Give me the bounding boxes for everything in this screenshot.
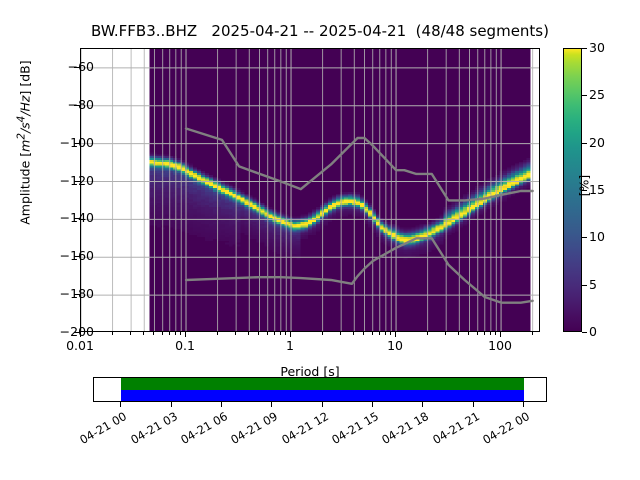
x-axis-tick-label-3: 10 [355, 338, 435, 353]
x-axis-tick-mark [353, 332, 354, 335]
colorbar-tick-mark-0 [582, 332, 587, 333]
x-axis-tick-mark [267, 332, 268, 335]
x-axis-tick-mark [153, 332, 154, 335]
colorbar-tick-label-6: 30 [589, 40, 605, 55]
x-axis-tick-mark [185, 332, 186, 337]
x-axis-tick-mark [180, 332, 181, 335]
figure-canvas: BW.FFB3..BHZ 2025-04-21 -- 2025-04-21 (4… [0, 0, 640, 480]
x-axis-tick-mark [248, 332, 249, 335]
x-axis-tick-mark [500, 332, 501, 337]
timeline-tick-mark-5 [372, 402, 373, 407]
y-axis-tick-mark-5 [74, 256, 80, 257]
y-axis-tick-mark-1 [74, 105, 80, 106]
colorbar-tick-label-5: 25 [589, 87, 605, 102]
x-axis-tick-mark [477, 332, 478, 335]
y-axis-tick-mark-6 [74, 294, 80, 295]
y-axis-tick-mark-2 [74, 143, 80, 144]
timeline-tick-mark-6 [422, 402, 423, 407]
x-axis-tick-mark [445, 332, 446, 335]
psd-segments-bar [121, 390, 524, 402]
x-axis-tick-mark [322, 332, 323, 335]
colorbar-tick-label-1: 5 [589, 277, 597, 292]
grid-and-noise-models [81, 49, 540, 332]
x-axis-tick-mark [217, 332, 218, 335]
colorbar-label: [%] [577, 126, 592, 246]
x-axis-tick-mark [484, 332, 485, 335]
x-axis-tick-mark [379, 332, 380, 335]
y-axis-tick-mark-0 [74, 67, 80, 68]
x-axis-tick-mark [385, 332, 386, 335]
x-axis-tick-mark [290, 332, 291, 337]
x-axis-tick-mark [372, 332, 373, 335]
x-axis-tick-mark [112, 332, 113, 335]
x-axis-tick-mark [340, 332, 341, 335]
x-axis-tick-label-4: 100 [460, 338, 540, 353]
colorbar-tick-mark-5 [582, 95, 587, 96]
figure-title: BW.FFB3..BHZ 2025-04-21 -- 2025-04-21 (4… [0, 22, 640, 40]
x-axis-tick-mark [258, 332, 259, 335]
x-axis-tick-mark [274, 332, 275, 335]
x-axis-tick-mark [235, 332, 236, 335]
x-axis-tick-mark [468, 332, 469, 335]
colorbar-tick-label-0: 0 [589, 324, 597, 339]
x-axis-tick-mark [490, 332, 491, 335]
y-axis-tick-mark-4 [74, 218, 80, 219]
timeline-tick-mark-3 [271, 402, 272, 407]
x-axis-tick-mark [80, 332, 81, 337]
timeline-tick-mark-8 [523, 402, 524, 407]
x-axis-tick-mark [495, 332, 496, 335]
x-axis-tick-mark [169, 332, 170, 335]
x-axis-tick-mark [130, 332, 131, 335]
ppsd-histogram-axes[interactable] [80, 48, 540, 332]
timeline-tick-mark-2 [221, 402, 222, 407]
x-axis-tick-mark [458, 332, 459, 335]
x-axis-tick-mark [363, 332, 364, 335]
timeline-tick-mark-1 [171, 402, 172, 407]
x-axis-tick-mark [162, 332, 163, 335]
timeline-tick-mark-7 [473, 402, 474, 407]
x-axis-tick-mark [395, 332, 396, 337]
x-axis-tick-mark [390, 332, 391, 335]
timeline-tick-mark-4 [322, 402, 323, 407]
data-available-bar [121, 378, 524, 390]
colorbar-tick-mark-6 [582, 48, 587, 49]
x-axis-tick-mark [285, 332, 286, 335]
x-axis-tick-label-1: 0.1 [145, 338, 225, 353]
timeline-axes[interactable] [93, 377, 547, 402]
x-axis-tick-mark [280, 332, 281, 335]
x-axis-tick-mark [532, 332, 533, 335]
x-axis-tick-mark [427, 332, 428, 335]
x-axis-tick-label-0: 0.01 [40, 338, 120, 353]
x-axis-tick-label-2: 1 [250, 338, 330, 353]
y-axis-tick-mark-3 [74, 181, 80, 182]
x-axis-tick-mark [175, 332, 176, 335]
timeline-tick-mark-0 [120, 402, 121, 407]
x-axis-tick-mark [143, 332, 144, 335]
colorbar-tick-mark-1 [582, 285, 587, 286]
